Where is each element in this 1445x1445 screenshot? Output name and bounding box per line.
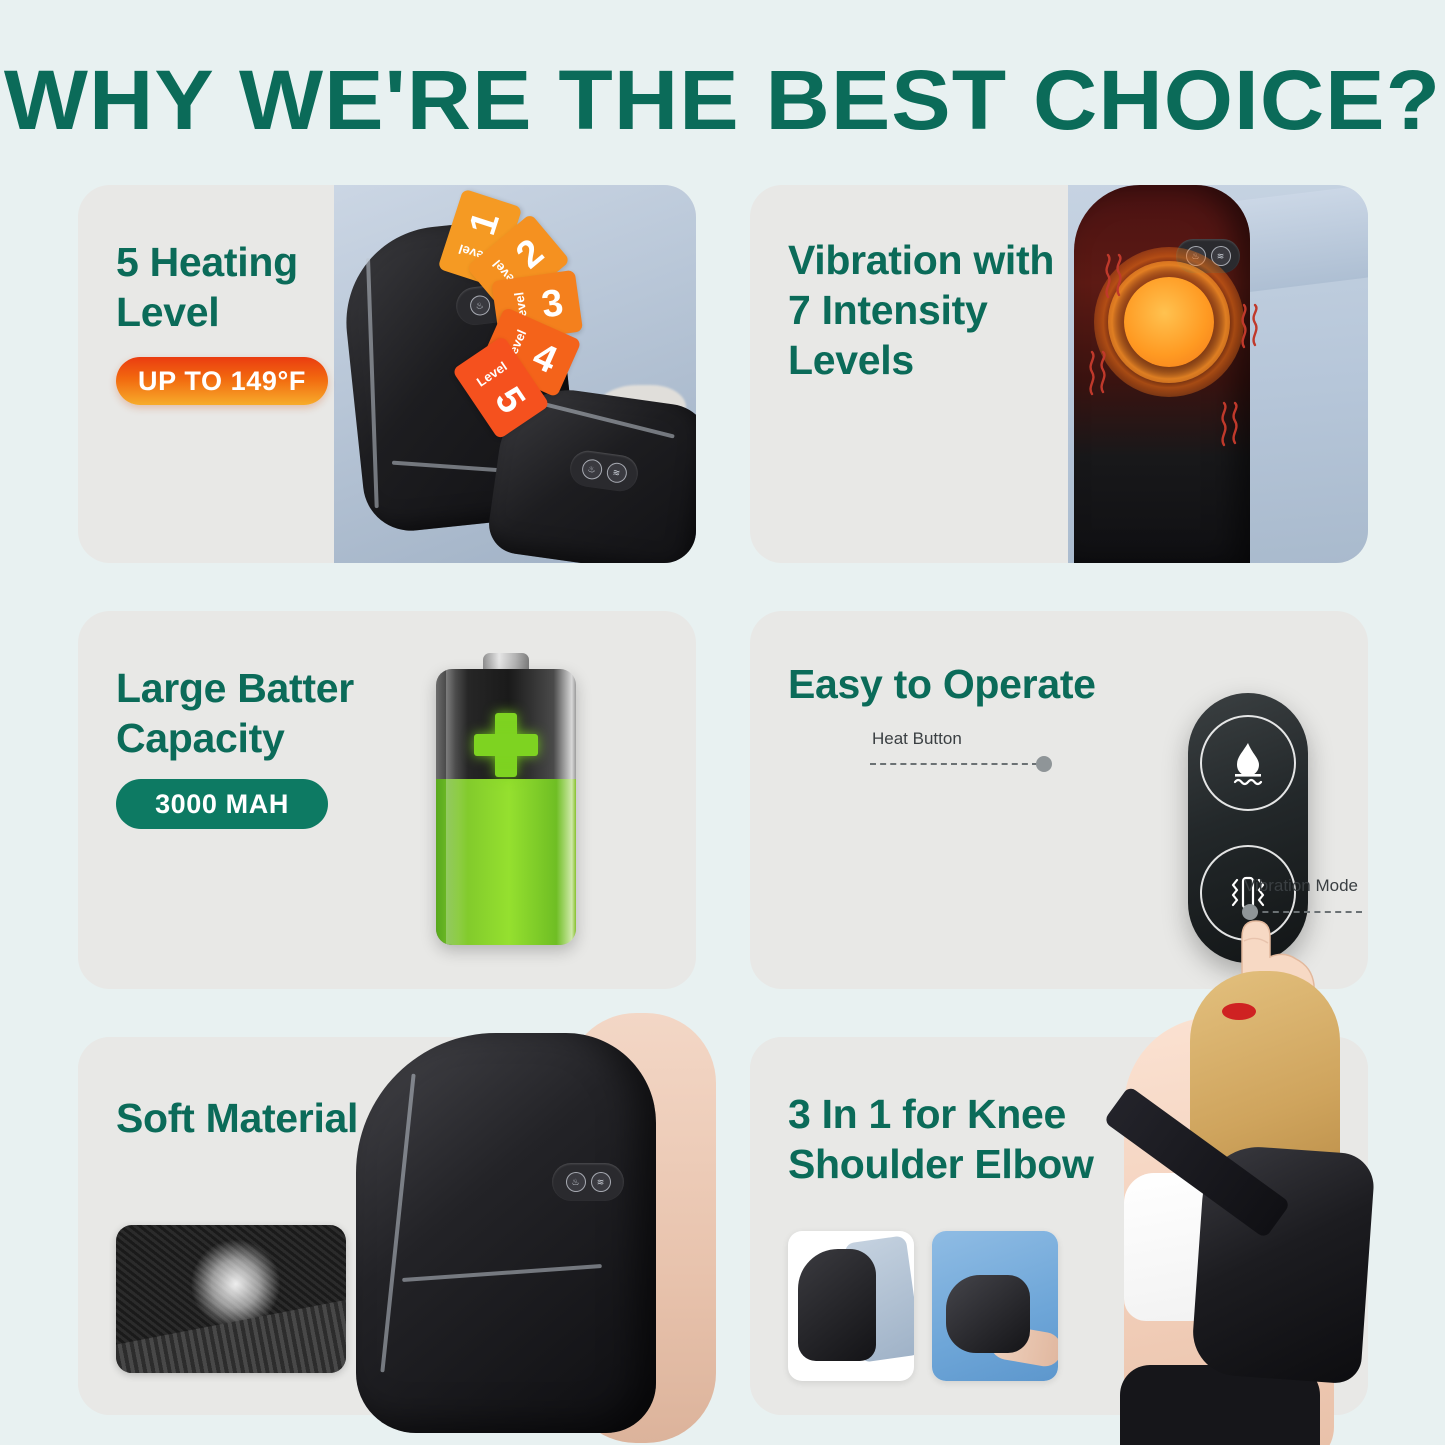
- card-heating-level: ♨ ≋ ♨ ≋ Level 1 Level 2 Level 3 Le: [78, 185, 696, 563]
- card-soft-material: ♨ ≋ Soft Material: [78, 1037, 696, 1415]
- heat-button[interactable]: [1200, 715, 1296, 811]
- vibration-wave-icon: [1238, 303, 1264, 349]
- card-battery-capacity: Large Batter Capacity 3000 MAH: [78, 611, 696, 989]
- card-vibration-levels: ♨ ≋ Vibration with 7 Intensity Levels: [750, 185, 1368, 563]
- level-number: 2: [510, 233, 551, 276]
- thumbnail-elbow-brace[interactable]: [932, 1231, 1058, 1381]
- soft-brace-photo: ♨ ≋: [326, 1003, 726, 1445]
- heat-button-callout-label: Heat Button: [872, 729, 962, 749]
- level-label: Level: [474, 359, 510, 390]
- application-thumbnails: [788, 1231, 1058, 1381]
- heat-button-leader-line: [870, 763, 1038, 765]
- model-wearing-shoulder-brace: [1026, 977, 1374, 1445]
- heat-button-anchor-dot: [1036, 756, 1052, 772]
- card-heading: Soft Material: [116, 1093, 358, 1143]
- thumbnail-knee-brace[interactable]: [788, 1231, 914, 1381]
- elbow-brace: [946, 1275, 1030, 1353]
- card-heading: Easy to Operate: [788, 659, 1096, 709]
- vibration-icon[interactable]: ≋: [591, 1172, 611, 1192]
- fabric-strap: [116, 1296, 346, 1373]
- device-control-pad[interactable]: ♨ ≋: [552, 1163, 624, 1201]
- battery-capacity-badge: 3000 MAH: [116, 779, 328, 829]
- card-three-in-one: 3 In 1 for Knee Shoulder Elbow: [750, 1037, 1368, 1415]
- vibration-wave-icon: [1102, 253, 1128, 299]
- level-number: 3: [539, 284, 565, 325]
- heat-icon[interactable]: ♨: [566, 1172, 586, 1192]
- battery-gloss: [446, 669, 468, 945]
- pointing-finger-icon: [1190, 845, 1340, 989]
- card-heading: Large Batter Capacity: [116, 663, 354, 763]
- fabric-closeup-inset: [116, 1225, 346, 1373]
- battery-plus-icon: [474, 713, 538, 777]
- brace-seam: [366, 258, 379, 508]
- level-number: 5: [488, 381, 531, 420]
- brace-seam: [380, 1074, 415, 1373]
- feature-grid: ♨ ≋ ♨ ≋ Level 1 Level 2 Level 3 Le: [78, 185, 1368, 1415]
- card-heading: Vibration with 7 Intensity Levels: [788, 235, 1054, 385]
- heat-glow-core: [1124, 277, 1214, 367]
- heat-icon[interactable]: ♨: [580, 458, 603, 481]
- brace-shell: ♨ ≋: [356, 1033, 656, 1433]
- brace-seam: [402, 1264, 602, 1282]
- vibration-mode-leader-line: [1252, 911, 1362, 913]
- battery-body: [436, 669, 576, 945]
- level-number: 1: [463, 208, 506, 240]
- model-lips: [1222, 1003, 1256, 1020]
- vibration-wave-icon: [1086, 350, 1112, 396]
- card-heading: 3 In 1 for Knee Shoulder Elbow: [788, 1089, 1094, 1189]
- vibration-mode-callout-label: Vibration Mode: [1244, 876, 1358, 896]
- vibration-wave-icon: [1218, 401, 1244, 447]
- vibration-icon[interactable]: ≋: [605, 461, 628, 484]
- heat-level-fan: Level 1 Level 2 Level 3 Level 4 Level 5: [378, 191, 678, 406]
- heat-max-badge: UP TO 149°F: [116, 357, 328, 405]
- battery-illustration: [436, 653, 576, 945]
- vibration-mode-anchor-dot: [1242, 904, 1258, 920]
- knee-brace: [798, 1249, 876, 1361]
- vibration-knee-photo: ♨ ≋: [1068, 185, 1368, 563]
- card-heading: 5 Heating Level: [116, 237, 298, 337]
- flame-icon: [1227, 738, 1269, 788]
- level-number: 4: [527, 337, 562, 380]
- card-easy-to-operate: Heat Button Vibration Mode Easy to Opera…: [750, 611, 1368, 989]
- page-title: WHY WE'RE THE BEST CHOICE?: [0, 52, 1445, 149]
